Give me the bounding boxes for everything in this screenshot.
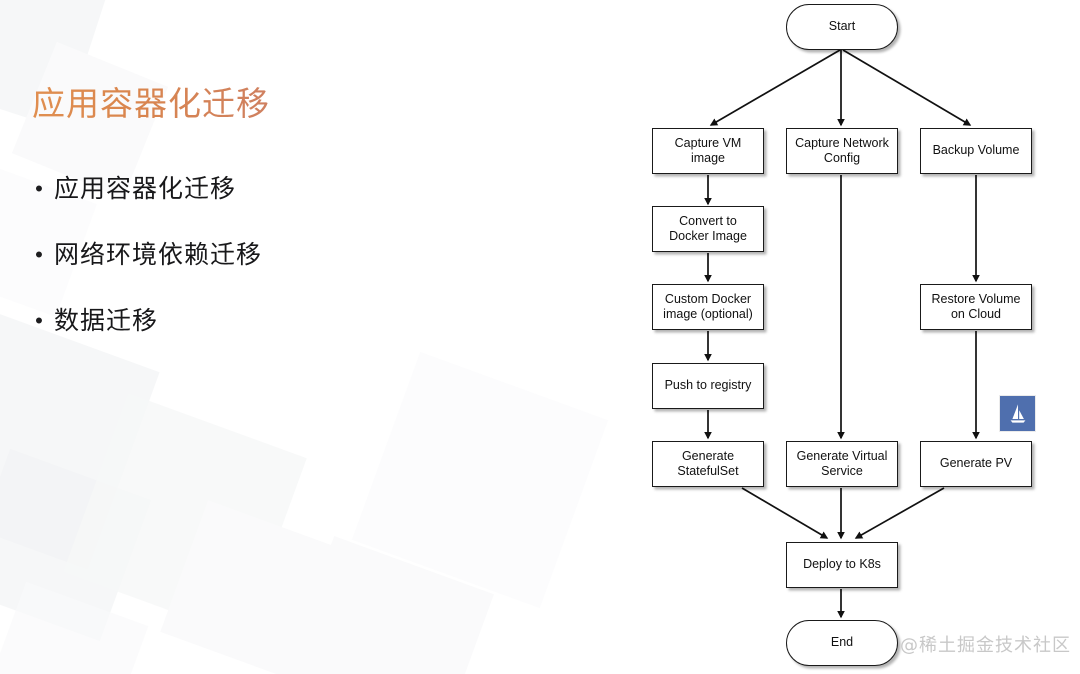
node-capture-vm-image-label: Capture VM image (675, 136, 742, 167)
node-generate-virtual-service[interactable]: Generate Virtual Service (786, 441, 898, 487)
node-generate-statefulset[interactable]: Generate StatefulSet (652, 441, 764, 487)
node-start[interactable]: Start (786, 4, 898, 50)
node-generate-pv[interactable]: Generate PV (920, 441, 1032, 487)
node-capture-vm-image[interactable]: Capture VM image (652, 128, 764, 174)
node-start-label: Start (829, 19, 855, 35)
node-generate-virtual-service-label: Generate Virtual Service (797, 449, 888, 480)
node-capture-network-config-label: Capture Network Config (795, 136, 889, 167)
flowchart-connectors (0, 0, 1080, 674)
node-end-label: End (831, 635, 853, 651)
node-backup-volume[interactable]: Backup Volume (920, 128, 1032, 174)
node-generate-pv-label: Generate PV (940, 456, 1012, 472)
edge-start-capturevm (711, 50, 840, 125)
edge-start-backupvol (843, 50, 970, 125)
node-capture-network-config[interactable]: Capture Network Config (786, 128, 898, 174)
node-generate-statefulset-label: Generate StatefulSet (677, 449, 738, 480)
node-convert-to-docker-image[interactable]: Convert to Docker Image (652, 206, 764, 252)
node-end[interactable]: End (786, 620, 898, 666)
node-custom-docker-image[interactable]: Custom Docker image (optional) (652, 284, 764, 330)
node-backup-volume-label: Backup Volume (933, 143, 1020, 159)
edge-genpv-deploy (856, 488, 944, 538)
slide-canvas: 应用容器化迁移 • 应用容器化迁移 • 网络环境依赖迁移 • 数据迁移 (0, 0, 1080, 674)
helm-logo-icon (1000, 396, 1035, 431)
node-deploy-to-k8s[interactable]: Deploy to K8s (786, 542, 898, 588)
watermark: @稀土掘金技术社区 (900, 631, 1071, 657)
node-push-to-registry[interactable]: Push to registry (652, 363, 764, 409)
node-custom-docker-image-label: Custom Docker image (optional) (663, 292, 753, 323)
node-convert-to-docker-image-label: Convert to Docker Image (669, 214, 747, 245)
node-restore-volume-on-cloud-label: Restore Volume on Cloud (932, 292, 1021, 323)
node-restore-volume-on-cloud[interactable]: Restore Volume on Cloud (920, 284, 1032, 330)
edge-gensts-deploy (742, 488, 827, 538)
node-push-to-registry-label: Push to registry (665, 378, 752, 394)
node-deploy-to-k8s-label: Deploy to K8s (803, 557, 881, 573)
